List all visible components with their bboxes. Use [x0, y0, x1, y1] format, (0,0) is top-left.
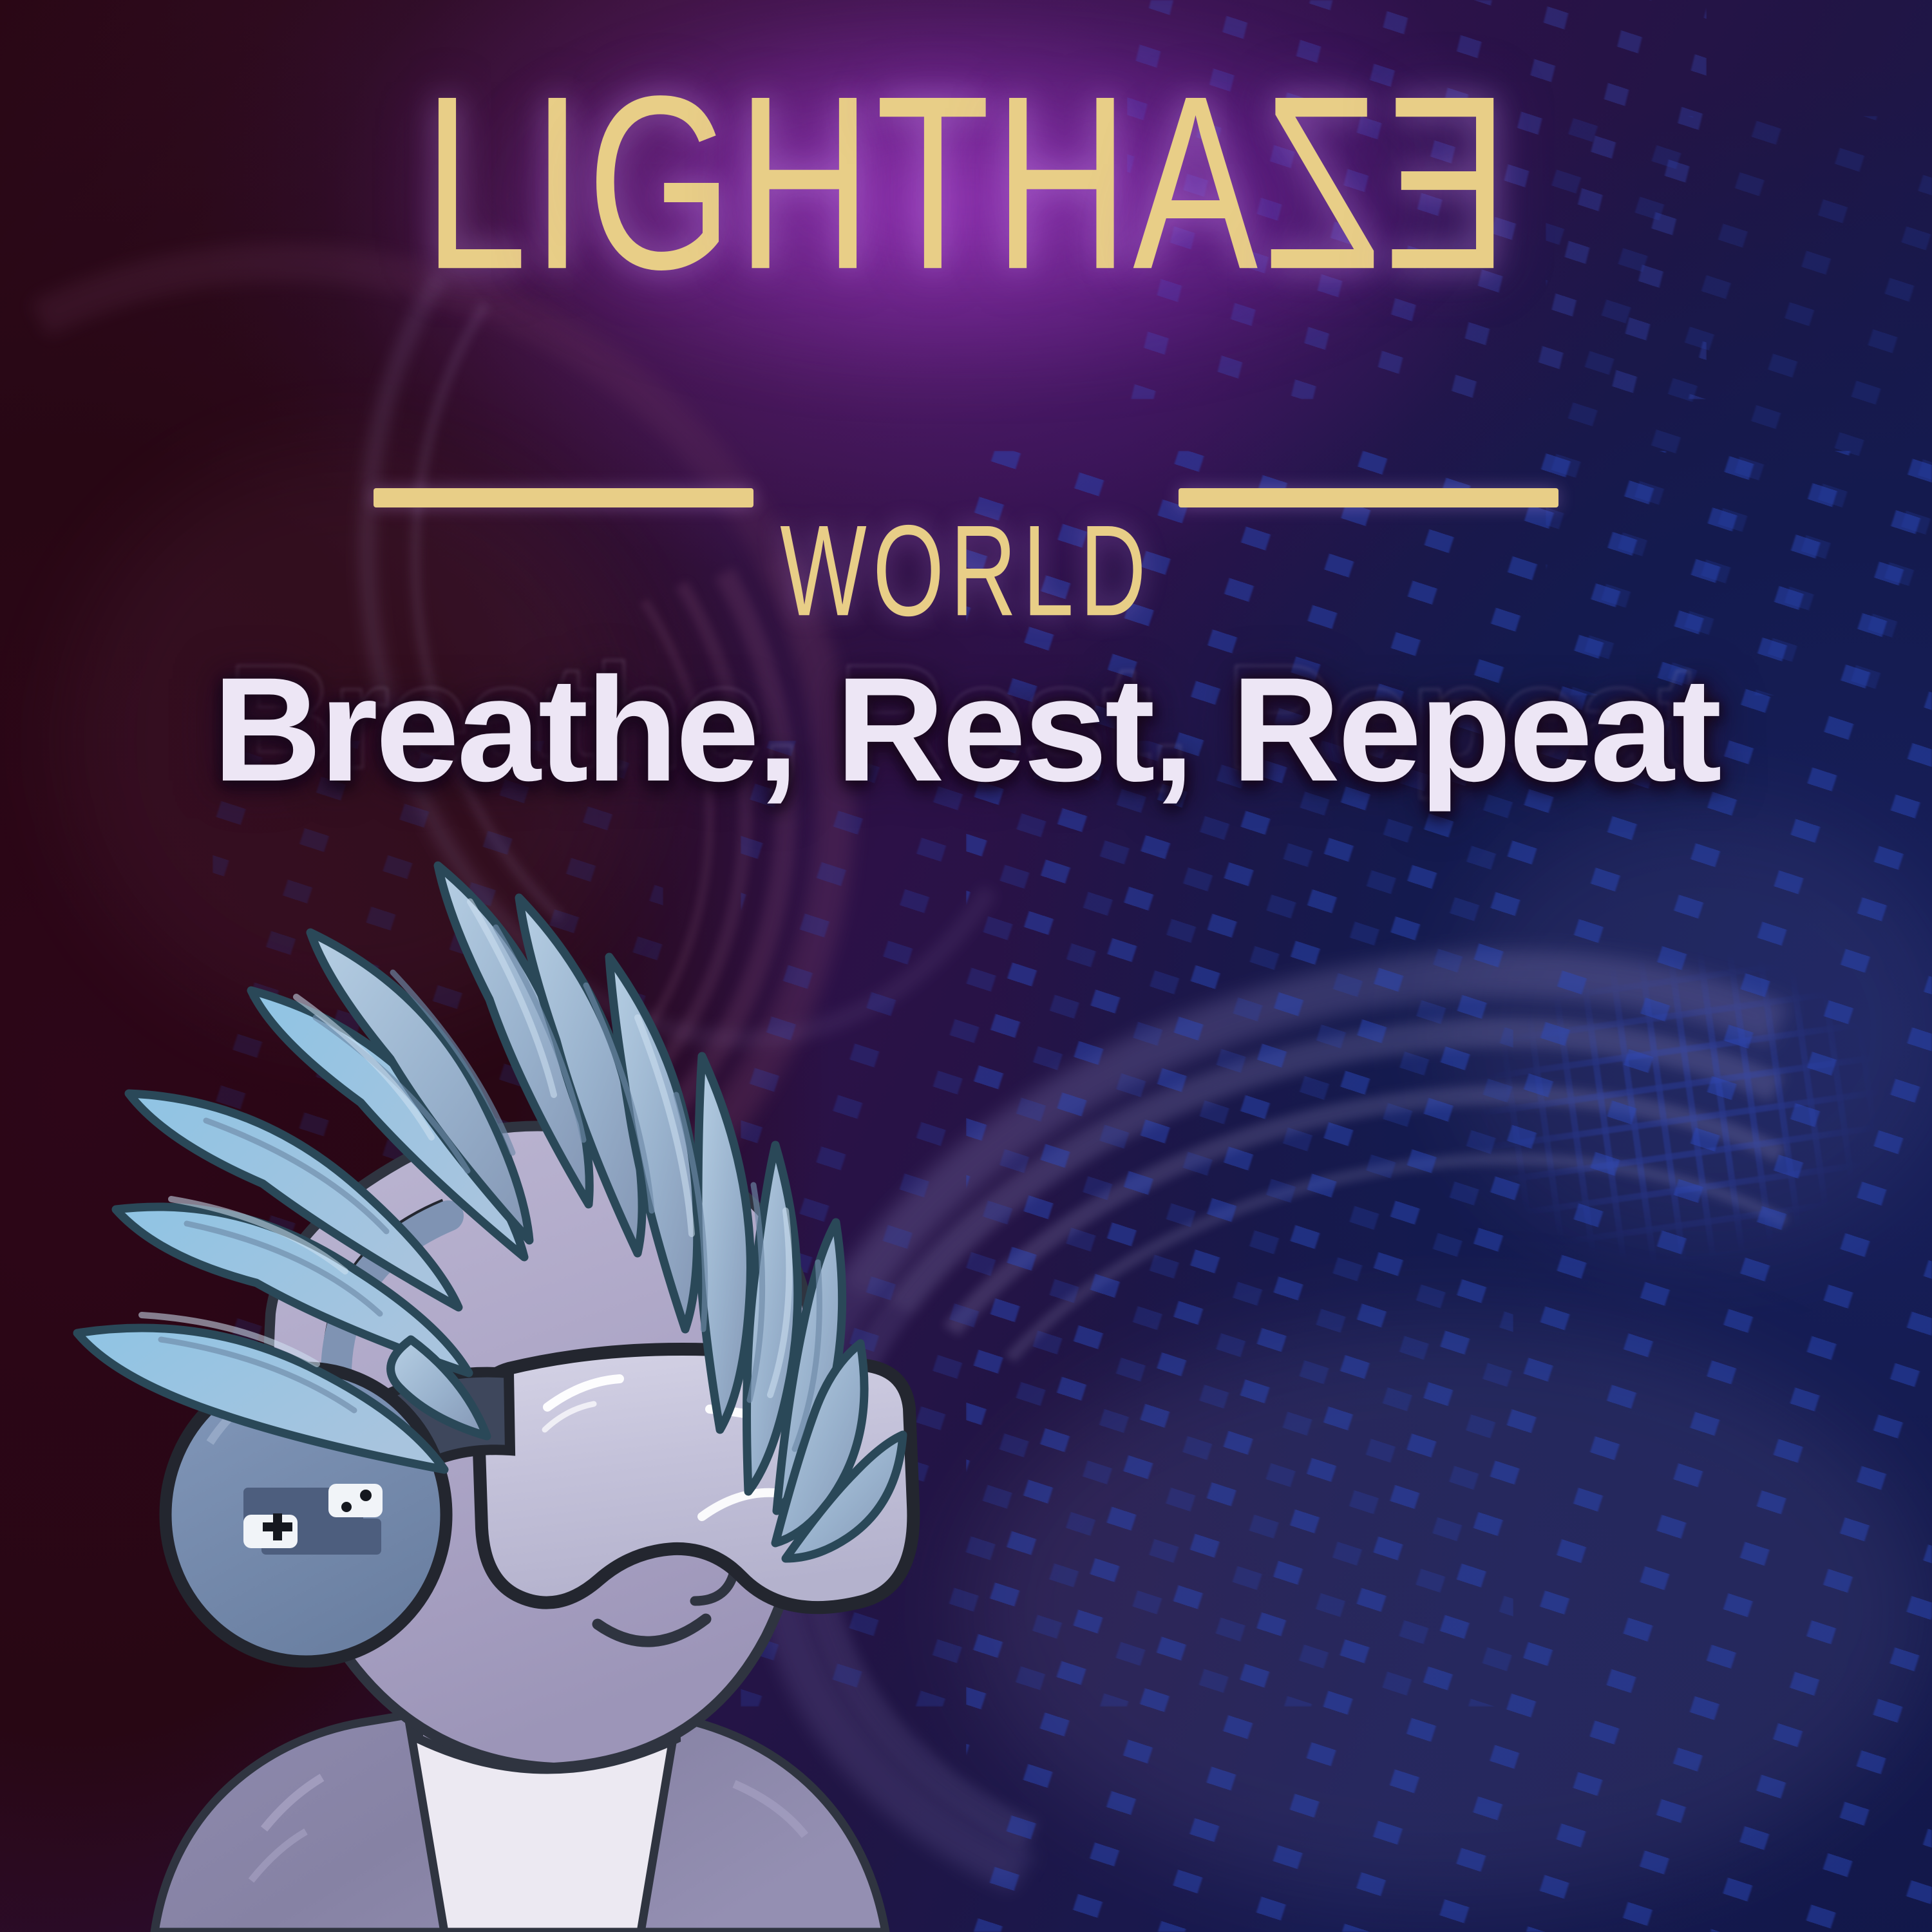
- logo-letter-G: G: [587, 76, 737, 289]
- character-svg: [58, 824, 972, 1932]
- brand-name-lighthaze: LIGHTHAZE: [423, 76, 1509, 289]
- logo-letter-T: T: [876, 76, 994, 289]
- logo-rule-right: [1179, 488, 1558, 507]
- character-group: [77, 866, 913, 1932]
- logo-letter-I: I: [531, 76, 587, 289]
- logo-letter-H2: H: [994, 76, 1133, 289]
- gamepad-button-a: [360, 1490, 372, 1501]
- brand-name-world: WORLD: [780, 361, 1152, 635]
- logo-letter-L: L: [423, 76, 531, 289]
- brand-subline-row: WORLD: [0, 395, 1932, 600]
- logo-letter-H1: H: [737, 76, 876, 289]
- gamepad-icon: [243, 1484, 383, 1555]
- logo-letter-E: E: [1380, 76, 1509, 289]
- character-illustration: [58, 824, 972, 1932]
- logo-rule-left: [374, 488, 753, 507]
- brand-logo: LIGHTHAZE WORLD: [0, 76, 1932, 242]
- logo-letter-A: A: [1133, 76, 1262, 289]
- logo-letter-Z: Z: [1262, 76, 1380, 289]
- album-cover: LIGHTHAZE WORLD Breathe, Rest, Repeat Br…: [0, 0, 1932, 1932]
- gamepad-button-b: [341, 1502, 352, 1512]
- album-title: Breathe, Rest, Repeat: [0, 644, 1932, 815]
